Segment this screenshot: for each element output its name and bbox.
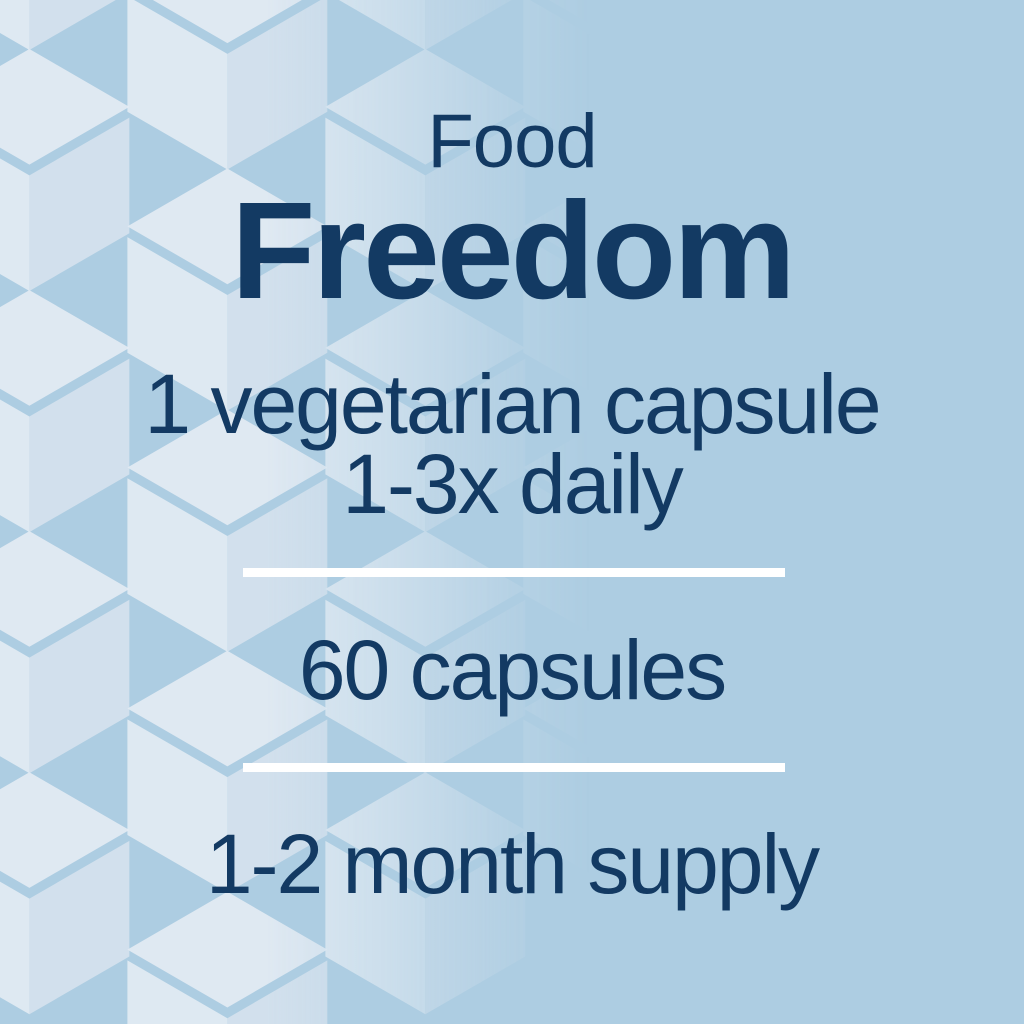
dosage-line-2: 1-3x daily (0, 442, 1024, 526)
label-content: Food Freedom 1 vegetarian capsule 1-3x d… (0, 0, 1024, 1024)
supply-duration: 1-2 month supply (0, 822, 1024, 906)
product-label-card: Food Freedom 1 vegetarian capsule 1-3x d… (0, 0, 1024, 1024)
brand-eyebrow: Food (0, 104, 1024, 180)
capsule-count: 60 capsules (0, 628, 1024, 712)
divider-top (243, 568, 785, 577)
dosage-line-1: 1 vegetarian capsule (0, 362, 1024, 446)
divider-bottom (243, 763, 785, 772)
brand-name: Freedom (0, 182, 1024, 320)
